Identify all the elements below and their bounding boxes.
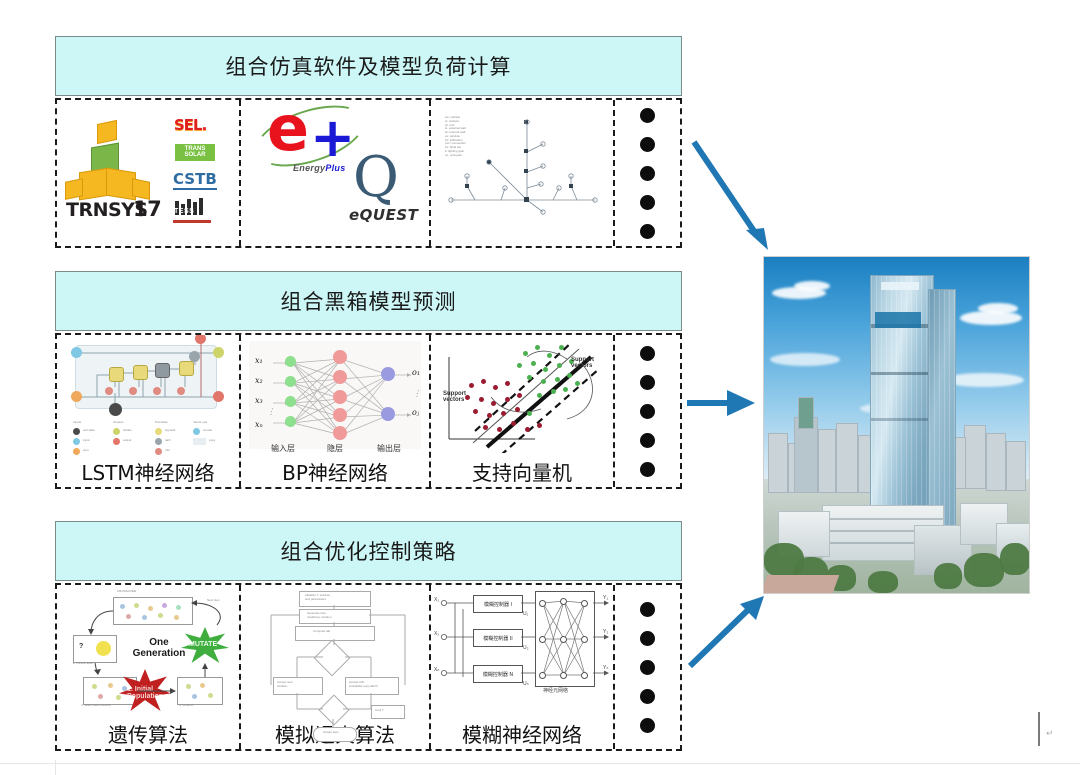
lstm-gate-node — [179, 361, 194, 376]
lstm-op-node — [189, 351, 200, 362]
cell-label-ga: 遗传算法 — [108, 725, 188, 749]
lstm-input-node — [71, 347, 82, 358]
arrow-bottom — [684, 596, 770, 672]
equest-wordmark: eQUEST — [349, 206, 418, 224]
cell-ga[interactable]: CROSSOVER ? 2. Fitness Eval 3. Select Be… — [57, 585, 241, 749]
bp-output-node — [381, 367, 395, 381]
tess-wordmark: TESS — [174, 208, 194, 215]
dot — [640, 195, 655, 210]
fuzzy-input-label: X₁ — [434, 597, 439, 603]
bp-output-label: oⱼ — [412, 408, 419, 417]
bp-output-node — [381, 407, 395, 421]
pilcrow-mark: ↵ — [1046, 728, 1054, 739]
transsolar-line2: SOLAR — [178, 152, 212, 158]
dot — [640, 108, 655, 123]
cell-lstm[interactable]: Inputs Outputs Pointwise Vector ops cell… — [57, 335, 241, 487]
building-photo — [763, 256, 1030, 594]
fuzzy-mid-label: U₂ — [523, 645, 529, 651]
slide-canvas: 组合仿真软件及模型负荷计算 TRNSYS 17 SEL. TRA — [0, 0, 1080, 775]
arrow-middle — [687, 390, 759, 416]
cell-label-svm: 支持向量机 — [472, 463, 572, 487]
bp-hidden-node — [333, 370, 347, 384]
trnsys-logos-art: TRNSYS 17 SEL. TRANS SOLAR CSTB — [57, 100, 239, 246]
bp-input-node — [285, 416, 296, 427]
cube-icon — [79, 168, 109, 201]
dot — [640, 689, 655, 704]
fuzzy-output-label: Y₁ — [603, 595, 608, 601]
svm-plot-art: Support vectors Support vectors — [431, 335, 613, 463]
annealing-flowchart-art: Initialize T, solutionand parameters Gen… — [241, 585, 429, 725]
fuzzy-neural-network-art: 模糊控制器 I 模糊控制器 II 模糊控制器 N — [431, 585, 613, 725]
ellipsis-dots — [615, 335, 680, 487]
dot — [640, 375, 655, 390]
dot — [640, 346, 655, 361]
bp-input-node — [285, 356, 296, 367]
cell-fuzzy[interactable]: 模糊控制器 I 模糊控制器 II 模糊控制器 N — [431, 585, 615, 749]
cell-bp[interactable]: x₁ x₂ x₃ xₙ ⋮ o₁ oⱼ ⋮ 输入层 隐层 输出层 BP神经网络 — [241, 335, 431, 487]
dot — [640, 404, 655, 419]
bp-input-label: x₂ — [255, 376, 263, 385]
dot — [640, 433, 655, 448]
energyplus-wordmark-b: Plus — [325, 163, 345, 173]
dot — [640, 137, 655, 152]
fuzzy-input-label: Xₙ — [434, 667, 439, 673]
bp-input-label: x₁ — [255, 356, 263, 365]
cell-label-fuzzy: 模糊神经网络 — [462, 725, 582, 749]
bp-input-label: xₙ — [255, 420, 263, 429]
dot — [640, 602, 655, 617]
tower-logo — [881, 282, 919, 290]
lstm-output-node — [213, 347, 224, 358]
cell-rc-network[interactable]: sw: surface sr: surface gf: roof ie: ext… — [431, 100, 615, 246]
cell-more-optimization[interactable] — [615, 585, 680, 749]
bp-hidden-node — [333, 350, 347, 364]
cell-more-simulation[interactable] — [615, 100, 680, 246]
tower-wing — [928, 289, 956, 529]
lstm-input-node — [71, 391, 82, 402]
transsolar-logo: TRANS SOLAR — [175, 144, 215, 161]
rc-network-graph — [431, 100, 615, 240]
trnsys-version: 17 — [133, 197, 161, 221]
lstm-gate-node — [133, 365, 148, 380]
fuzzy-output-label: Yₙ — [603, 665, 608, 671]
bp-network-art: x₁ x₂ x₃ xₙ ⋮ o₁ oⱼ ⋮ 输入层 隐层 输出层 — [241, 335, 429, 463]
section-title-optimization: 组合优化控制策略 — [281, 536, 457, 566]
section-body-optimization: CROSSOVER ? 2. Fitness Eval 3. Select Be… — [55, 583, 682, 751]
sel-logo: SEL. — [174, 116, 206, 134]
sa-flow-lines — [241, 585, 431, 745]
rc-network-art: sw: surface sr: surface gf: roof ie: ext… — [431, 100, 613, 246]
lstm-cell-art: Inputs Outputs Pointwise Vector ops cell… — [57, 335, 239, 463]
bp-output-label: o₁ — [412, 368, 420, 377]
section-body-blackbox: Inputs Outputs Pointwise Vector ops cell… — [55, 333, 682, 489]
dot — [640, 718, 655, 733]
bp-hidden-node — [333, 426, 347, 440]
lstm-gate-node — [155, 363, 170, 378]
dot — [640, 660, 655, 675]
cell-svm[interactable]: Support vectors Support vectors 支持向量机 — [431, 335, 615, 487]
bp-input-node — [285, 376, 296, 387]
bp-input-label: x₃ — [255, 396, 263, 405]
bp-hidden-node — [333, 408, 347, 422]
genetic-algorithm-art: CROSSOVER ? 2. Fitness Eval 3. Select Be… — [57, 585, 239, 725]
dot — [640, 224, 655, 239]
text-cursor — [1038, 712, 1040, 746]
fuzzy-output-label: Y₂ — [603, 629, 608, 635]
fuzzy-mid-label: Uₙ — [523, 681, 529, 687]
cell-more-blackbox[interactable] — [615, 335, 680, 487]
lstm-output-node — [213, 391, 224, 402]
fuzzy-mid-label: U₁ — [523, 611, 528, 617]
dot — [640, 462, 655, 477]
ga-arrows — [57, 585, 241, 715]
arrow-top — [690, 138, 780, 253]
dot — [640, 631, 655, 646]
bp-layer-label: 输出层 — [377, 443, 401, 454]
lstm-op-node — [109, 403, 122, 416]
lstm-legend: Inputs Outputs Pointwise Vector ops cell… — [73, 421, 225, 451]
tess-logo: TESS — [173, 198, 211, 223]
section-header-blackbox: 组合黑箱模型预测 — [55, 271, 682, 331]
cell-label-bp: BP神经网络 — [282, 463, 388, 487]
page-bottom-edge — [0, 763, 1080, 764]
section-simulation: 组合仿真软件及模型负荷计算 TRNSYS 17 SEL. TRA — [55, 36, 682, 248]
ellipsis-dots — [615, 100, 680, 246]
cell-trnsys[interactable]: TRNSYS 17 SEL. TRANS SOLAR CSTB — [57, 100, 241, 246]
svm-annotation-right: Support vectors — [571, 357, 611, 370]
fuzzy-net-label: 神经元网络 — [543, 687, 568, 694]
dot — [640, 166, 655, 181]
fuzzy-input-label: X₂ — [434, 631, 439, 637]
ellipsis-dots — [615, 585, 680, 749]
cube-icon — [97, 120, 117, 144]
section-body-simulation: TRNSYS 17 SEL. TRANS SOLAR CSTB — [55, 98, 682, 248]
section-optimization: 组合优化控制策略 CROSSOV — [55, 521, 682, 751]
equest-logo: Q eQUEST — [345, 162, 429, 224]
bp-layer-label: 输入层 — [271, 443, 295, 454]
cell-sa[interactable]: Initialize T, solutionand parameters Gen… — [241, 585, 431, 749]
page-left-edge — [55, 760, 56, 775]
section-title-simulation: 组合仿真软件及模型负荷计算 — [226, 51, 512, 81]
cube-icon — [65, 178, 83, 200]
tower-main — [870, 275, 934, 529]
section-title-blackbox: 组合黑箱模型预测 — [281, 286, 457, 316]
energyplus-wordmark-a: Energy — [293, 163, 325, 173]
equest-q-mark: Q — [353, 156, 399, 201]
ga-label: Next Gen — [207, 599, 220, 603]
bp-hidden-node — [333, 390, 347, 404]
section-header-simulation: 组合仿真软件及模型负荷计算 — [55, 36, 682, 96]
bp-layer-label: 隐层 — [327, 443, 343, 454]
energyplus-e-mark: e — [267, 104, 309, 154]
bp-input-node — [285, 396, 296, 407]
lstm-gate-node — [109, 367, 124, 382]
cell-energyplus-equest[interactable]: e + EnergyPlus Q eQUEST — [241, 100, 431, 246]
energyplus-equest-art: e + EnergyPlus Q eQUEST — [241, 100, 429, 246]
svm-annotation-left: Support vectors — [443, 391, 477, 404]
cstb-logo: CSTB — [173, 170, 217, 190]
section-blackbox: 组合黑箱模型预测 — [55, 271, 682, 489]
cell-label-lstm: LSTM神经网络 — [81, 463, 214, 487]
section-header-optimization: 组合优化控制策略 — [55, 521, 682, 581]
